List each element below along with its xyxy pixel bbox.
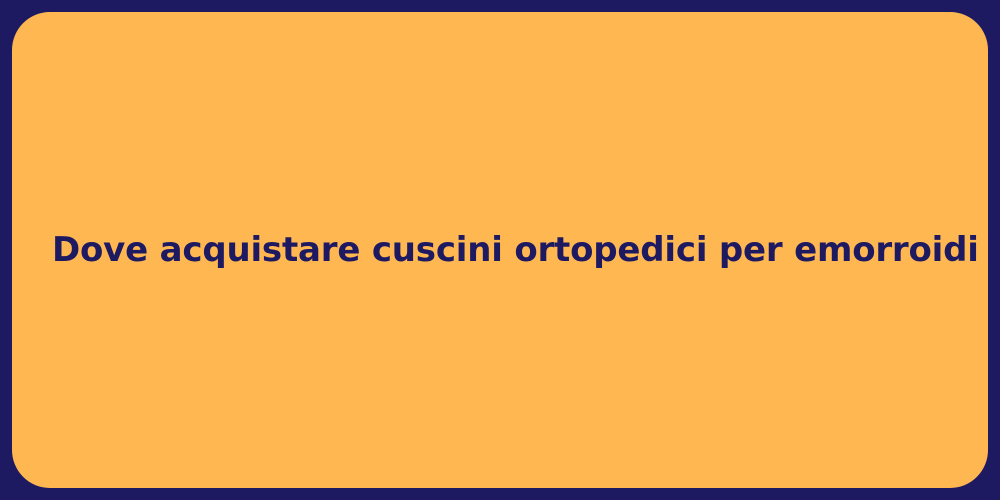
content-card: Dove acquistare cuscini ortopedici per e…	[12, 12, 988, 488]
page-title: Dove acquistare cuscini ortopedici per e…	[12, 229, 988, 272]
outer-frame: Dove acquistare cuscini ortopedici per e…	[0, 0, 1000, 500]
